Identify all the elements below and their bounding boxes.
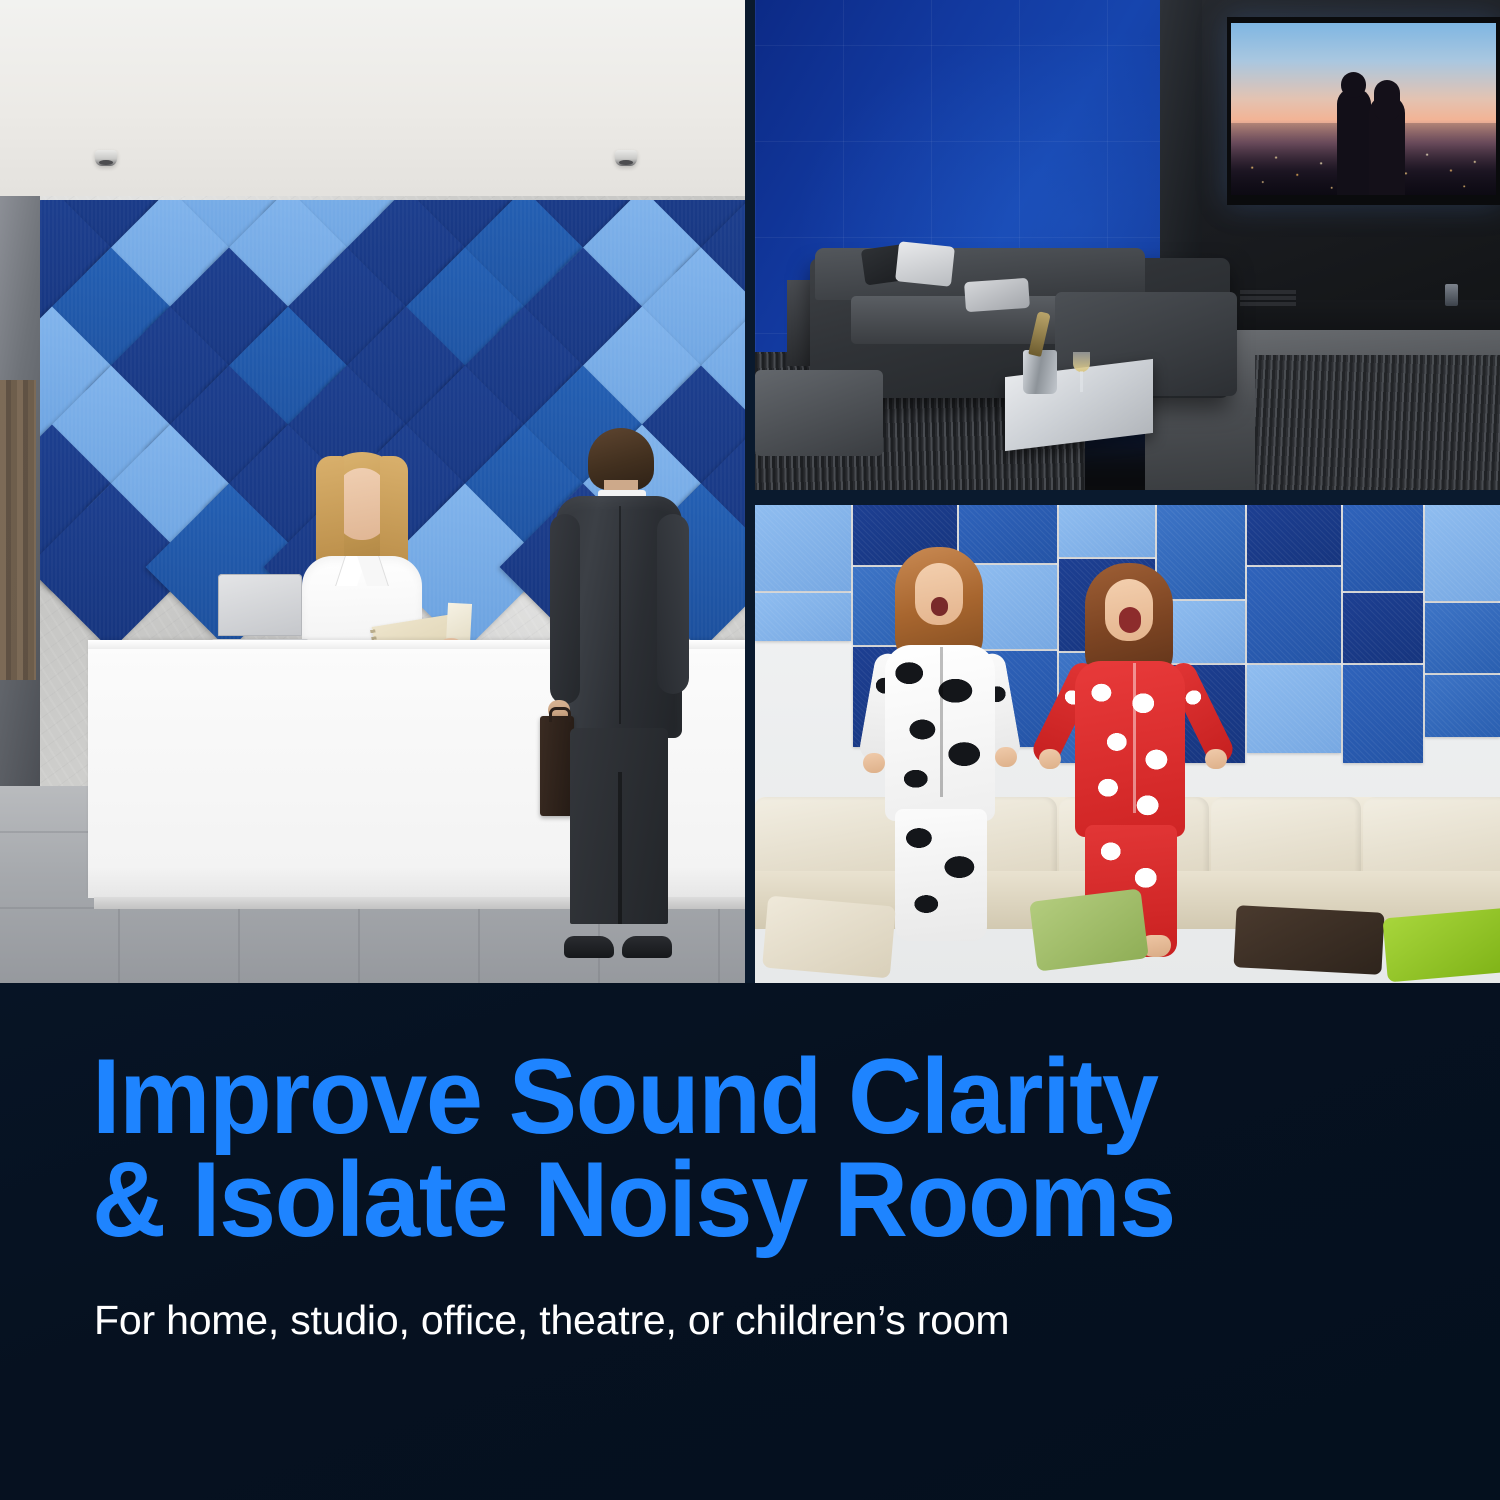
child-onesie-legs bbox=[895, 809, 987, 941]
child-mouth bbox=[1119, 607, 1141, 633]
acoustic-panel-square bbox=[1247, 505, 1341, 565]
office-ceiling bbox=[0, 0, 745, 205]
onesie-zipper bbox=[940, 647, 943, 797]
child-hand-left bbox=[863, 753, 885, 773]
child-face bbox=[1105, 579, 1153, 641]
subheadline-text: For home, studio, office, theatre, or ch… bbox=[94, 1295, 1344, 1345]
acoustic-panel-square bbox=[755, 593, 851, 641]
businessman-arm-right bbox=[657, 514, 689, 694]
scene-home-theatre bbox=[755, 0, 1500, 490]
headline-text: Improve Sound Clarity & Isolate Noisy Ro… bbox=[92, 1045, 1244, 1251]
sofa-pillow-white bbox=[895, 241, 955, 287]
kids-sofa-cushion bbox=[1211, 797, 1361, 877]
child-hand-right bbox=[995, 747, 1017, 767]
acoustic-panel-square bbox=[1247, 567, 1341, 663]
ceiling-spotlight-icon bbox=[95, 150, 117, 166]
headline-banner: Improve Sound Clarity & Isolate Noisy Ro… bbox=[0, 983, 1500, 1500]
acoustic-panel-square bbox=[1425, 675, 1500, 737]
child-figure-heart-onesie bbox=[1065, 563, 1201, 923]
acoustic-panel-square bbox=[755, 505, 851, 591]
kids-sofa-cushion bbox=[1363, 797, 1500, 877]
child-mouth bbox=[931, 597, 948, 616]
shag-rug-right bbox=[1255, 355, 1500, 490]
wine-glass bbox=[1073, 352, 1090, 392]
businessman-arm-left bbox=[550, 514, 580, 704]
acoustic-panel-square bbox=[1059, 505, 1155, 557]
businessman-trousers bbox=[570, 728, 668, 924]
throw-pillow-cream bbox=[762, 896, 896, 979]
throw-pillow-lime bbox=[1382, 908, 1500, 983]
onesie-zipper bbox=[1133, 663, 1136, 813]
scene-childrens-room bbox=[755, 505, 1500, 983]
media-boxes bbox=[1240, 288, 1296, 306]
briefcase bbox=[540, 716, 574, 816]
businessman-shoe-left bbox=[564, 936, 614, 958]
ottoman bbox=[755, 370, 883, 456]
glass-vase bbox=[1445, 284, 1458, 306]
acoustic-panel-square bbox=[1343, 593, 1423, 663]
screen-silhouette-man bbox=[1337, 88, 1371, 195]
acoustic-panel-square bbox=[1343, 505, 1423, 591]
throw-pillow-brown bbox=[1233, 905, 1384, 975]
throw-pillow-green bbox=[1029, 888, 1149, 971]
projection-screen-image bbox=[1231, 23, 1496, 195]
laptop-screen bbox=[218, 574, 302, 636]
wood-slat-wall bbox=[0, 380, 36, 680]
acoustic-panel-square bbox=[1247, 665, 1341, 753]
sofa-pillow-light bbox=[964, 278, 1030, 312]
businessman-shoe-right bbox=[622, 936, 672, 958]
screen-silhouette-woman bbox=[1369, 95, 1405, 195]
acoustic-panel-square bbox=[1343, 665, 1423, 763]
child-figure-cow-onesie bbox=[875, 547, 1005, 937]
child-hand-left bbox=[1039, 749, 1061, 769]
child-onesie-top bbox=[1075, 661, 1185, 837]
projection-screen bbox=[1227, 17, 1500, 205]
businessman-figure bbox=[540, 428, 695, 958]
child-face bbox=[915, 563, 963, 625]
ceiling-spotlight-icon bbox=[615, 150, 637, 166]
child-hand-right bbox=[1205, 749, 1227, 769]
scene-office-reception bbox=[0, 0, 745, 983]
laptop bbox=[212, 574, 308, 646]
acoustic-panel-square bbox=[1425, 505, 1500, 601]
image-collage bbox=[0, 0, 1500, 983]
product-marketing-banner: Improve Sound Clarity & Isolate Noisy Ro… bbox=[0, 0, 1500, 1500]
acoustic-panel-square bbox=[1425, 603, 1500, 673]
